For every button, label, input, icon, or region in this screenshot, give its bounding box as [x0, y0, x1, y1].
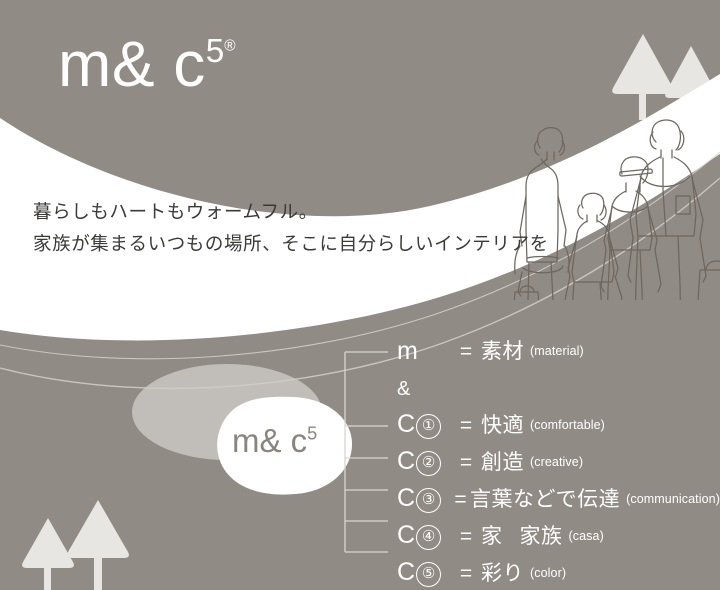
tagline-line-1: 暮らしもハートもウォームフル。 — [33, 196, 549, 228]
circled-number-icon: ④ — [416, 525, 441, 550]
legend-key: C② — [397, 449, 451, 476]
circled-number-icon: ③ — [416, 488, 441, 513]
legend-row: C③ = 言葉などで伝達 (communication) — [397, 481, 720, 518]
legend-english: (color) — [530, 567, 566, 580]
blob-wordmark-text: m& c — [232, 422, 307, 459]
blob-wordmark-superscript: 5 — [307, 423, 317, 443]
brand-wordmark-text: m& c — [58, 28, 206, 100]
legend-key: C① — [397, 412, 451, 439]
legend-row: & — [397, 370, 720, 407]
legend-row: C② = 創造 (creative) — [397, 444, 720, 481]
legend-japanese: 創造 — [481, 452, 524, 473]
legend-row: m = 素材 (material) — [397, 333, 720, 370]
legend-japanese: 家家族 — [481, 526, 563, 547]
legend-english: (communication) — [626, 493, 720, 506]
legend-row: C④ = 家家族 (casa) — [397, 518, 720, 555]
legend-japanese: 素材 — [481, 341, 524, 362]
blob-wordmark: m& c5 — [232, 424, 317, 457]
legend-english: (material) — [530, 345, 584, 358]
legend-key: m — [397, 339, 451, 364]
brand-wordmark-superscript: 5 — [206, 33, 225, 70]
legend-key: C⑤ — [397, 560, 451, 587]
legend-english: (comfortable) — [530, 419, 605, 432]
circled-number-icon: ① — [416, 414, 441, 439]
legend-english: (casa) — [569, 530, 604, 543]
legend-japanese: 快適 — [481, 415, 524, 436]
legend-japanese: 彩り — [481, 563, 524, 584]
legend-key: C③ — [397, 486, 451, 513]
registered-trademark-icon: ® — [224, 38, 235, 55]
legend-equals: = — [451, 452, 481, 473]
circled-number-icon: ⑤ — [416, 562, 441, 587]
poster-canvas: m& c5® 暮らしもハートもウォームフル。 家族が集まるいつもの場所、そこに自… — [0, 0, 720, 590]
tagline: 暮らしもハートもウォームフル。 家族が集まるいつもの場所、そこに自分らしいインテ… — [33, 196, 549, 260]
circled-number-icon: ② — [416, 451, 441, 476]
legend-equals: = — [451, 415, 481, 436]
legend-row: C⑤ = 彩り (color) — [397, 555, 720, 590]
legend-equals: = — [451, 489, 470, 510]
legend-equals: = — [451, 526, 481, 547]
legend-english: (creative) — [530, 456, 583, 469]
legend-japanese: 言葉などで伝達 — [470, 489, 620, 510]
legend-key: & — [397, 379, 451, 399]
legend-key: C④ — [397, 523, 451, 550]
legend-equals: = — [451, 341, 481, 362]
tagline-line-2: 家族が集まるいつもの場所、そこに自分らしいインテリアを — [33, 228, 549, 260]
brand-wordmark: m& c5® — [58, 32, 236, 96]
legend-list: m = 素材 (material) & C① = 快適 (comfortable… — [397, 333, 720, 590]
legend-row: C① = 快適 (comfortable) — [397, 407, 720, 444]
legend-equals: = — [451, 563, 481, 584]
